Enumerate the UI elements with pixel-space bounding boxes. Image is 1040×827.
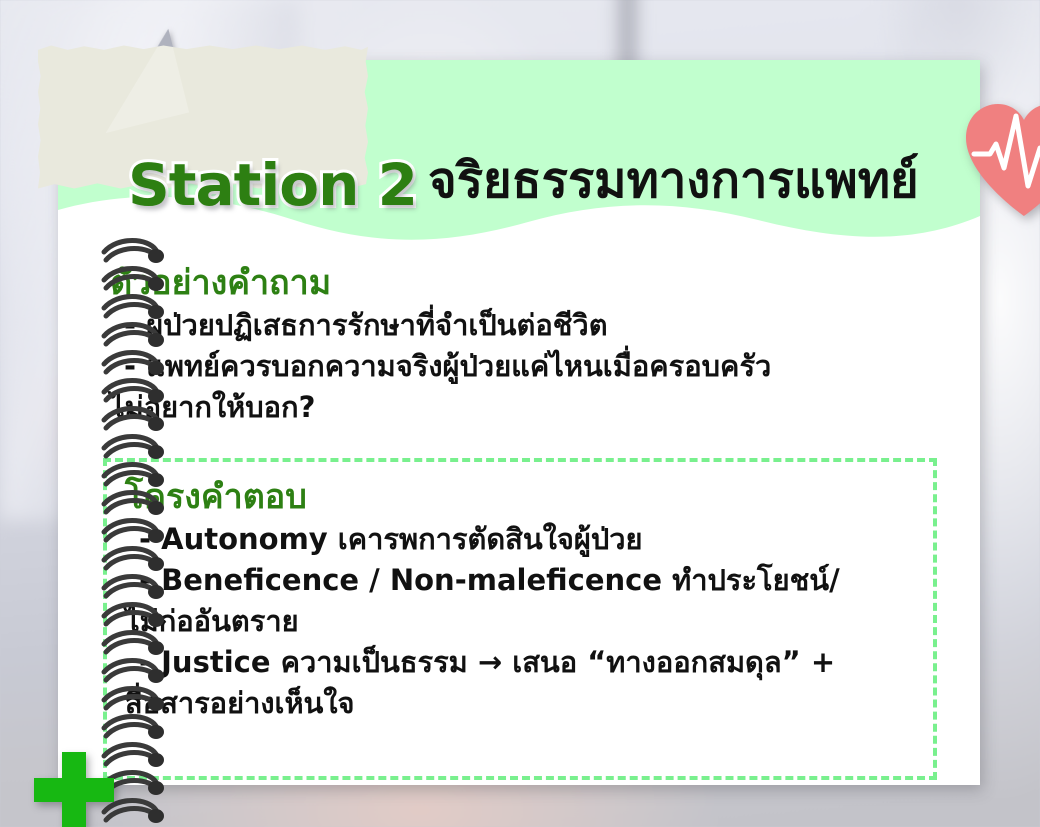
question-section-heading: ตัวอย่างคำถาม xyxy=(110,262,954,305)
answer-section-heading: โครงคำตอบ xyxy=(125,476,913,519)
notebook-card: Station 2 จริยธรรมทางการแพทย์ xyxy=(58,60,980,785)
heart-ecg-icon xyxy=(960,100,1040,220)
answer-bullet-2-wrap: ไม่ก่ออันตราย xyxy=(125,601,913,642)
page-title: จริยธรรมทางการแพทย์ xyxy=(428,154,919,208)
question-section: ตัวอย่างคำถาม - ผู้ป่วยปฏิเสธการรักษาที่… xyxy=(58,246,980,428)
station-label: Station 2 xyxy=(128,156,417,214)
question-bullet-2: - แพทย์ควรบอกความจริงผู้ป่วยแค่ไหนเมื่อค… xyxy=(110,346,954,387)
question-bullet-1: - ผู้ป่วยปฏิเสธการรักษาที่จำเป็นต่อชีวิต xyxy=(110,305,954,346)
answer-bullet-3-wrap: สื่อสารอย่างเห็นใจ xyxy=(125,683,913,724)
question-bullet-2-wrap: ไม่อยากให้บอก? xyxy=(110,387,954,428)
answer-bullet-3: - Justice ความเป็นธรรม → เสนอ “ทางออกสมด… xyxy=(125,642,913,683)
answer-outline-box: โครงคำตอบ - Autonomy เคารพการตัดสินใจผู้… xyxy=(103,458,937,780)
medical-cross-icon xyxy=(34,752,114,827)
answer-bullet-2: - Beneficence / Non-maleficence ทำประโยช… xyxy=(125,560,913,601)
answer-bullet-1: - Autonomy เคารพการตัดสินใจผู้ป่วย xyxy=(125,519,913,560)
